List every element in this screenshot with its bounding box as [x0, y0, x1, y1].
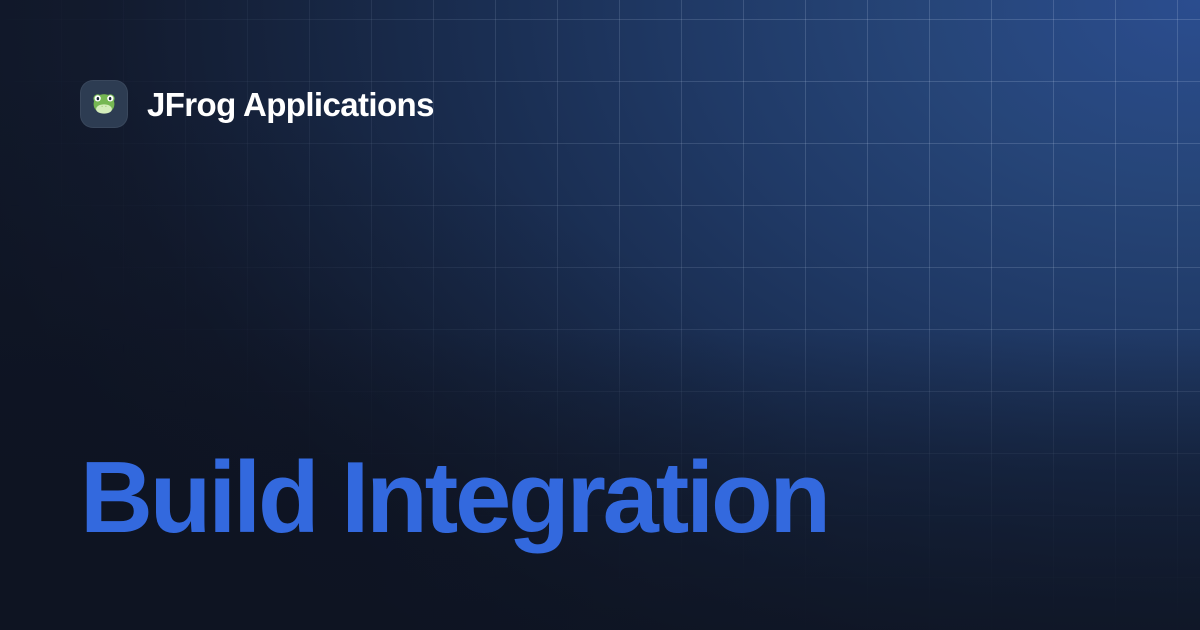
social-card: JFrog Applications Build Integration	[0, 0, 1200, 630]
brand-lockup: JFrog Applications	[80, 80, 434, 128]
page-title: Build Integration	[80, 445, 828, 552]
frog-face-icon	[88, 88, 120, 120]
brand-name: JFrog Applications	[147, 88, 434, 121]
card-content: JFrog Applications Build Integration	[0, 0, 1200, 630]
logo-badge	[80, 80, 128, 128]
